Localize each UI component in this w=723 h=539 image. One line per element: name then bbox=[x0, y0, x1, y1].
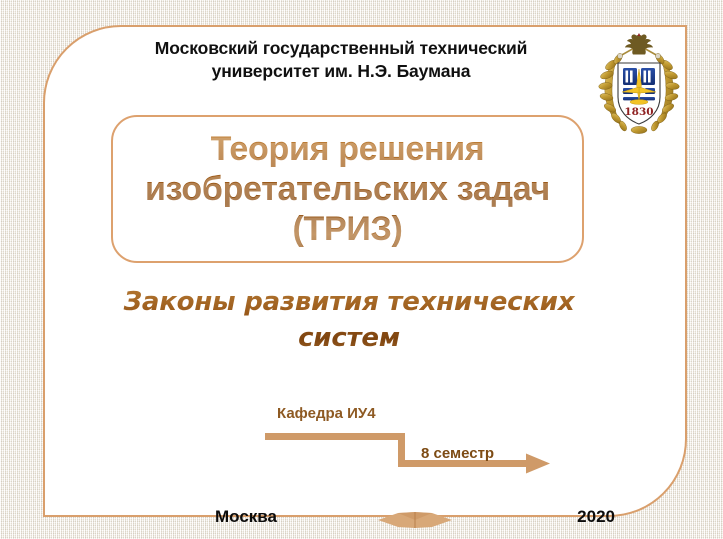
slide-panel: Московский государственный технический у… bbox=[43, 25, 687, 517]
organization-line-1: Московский государственный технический bbox=[107, 37, 575, 60]
footer-row: Москва 2020 bbox=[215, 507, 615, 535]
organization-line-2: университет им. Н.Э. Баумана bbox=[107, 60, 575, 83]
bmstu-emblem-icon: 1830 bbox=[596, 31, 682, 135]
slide-title: Теория решения изобретательских задач (Т… bbox=[135, 129, 560, 249]
stepped-arrow-group: Кафедра ИУ4 8 семестр bbox=[255, 405, 565, 487]
title-box: Теория решения изобретательских задач (Т… bbox=[111, 115, 584, 263]
title-line-3: (ТРИЗ) bbox=[145, 209, 550, 249]
semester-label: 8 семестр bbox=[421, 445, 494, 462]
double-arrow-icon bbox=[378, 511, 452, 529]
slide-subtitle: Законы развития технических систем bbox=[119, 285, 579, 357]
subtitle-line-1: Законы развития технических bbox=[119, 285, 579, 321]
footer-city: Москва bbox=[215, 507, 277, 527]
logo-year-text: 1830 bbox=[624, 106, 653, 118]
organization-header: Московский государственный технический у… bbox=[107, 37, 575, 84]
department-label: Кафедра ИУ4 bbox=[277, 405, 376, 422]
title-line-2: изобретательских задач bbox=[145, 169, 550, 209]
title-line-1: Теория решения bbox=[145, 129, 550, 169]
subtitle-line-2: систем bbox=[119, 321, 579, 357]
footer-year: 2020 bbox=[577, 507, 615, 527]
